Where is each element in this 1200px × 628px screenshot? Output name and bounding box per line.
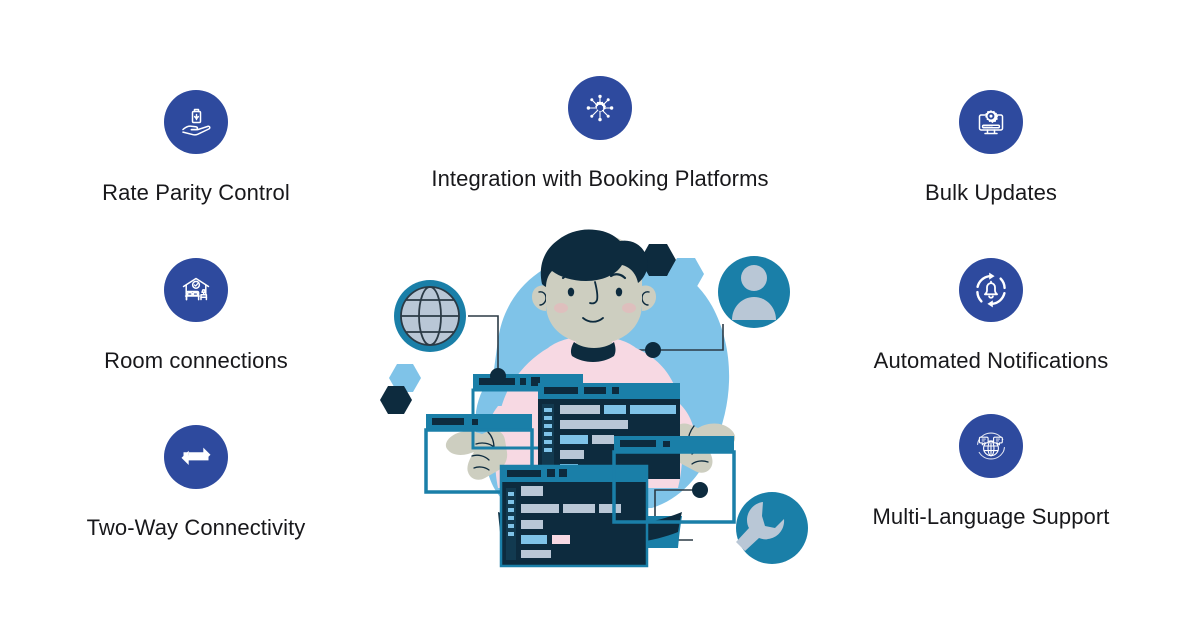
- feature-label: Bulk Updates: [925, 180, 1057, 206]
- bell-refresh-icon: [959, 258, 1023, 322]
- central-illustration: [380, 228, 810, 578]
- user-badge: [718, 256, 790, 328]
- feature-label: Rate Parity Control: [102, 180, 290, 206]
- feature-bulk-updates[interactable]: Bulk Updates: [821, 90, 1161, 206]
- two-way-arrows-icon: [164, 425, 228, 489]
- monitor-gear-icon: [959, 90, 1023, 154]
- hand-price-tag-icon: [164, 90, 228, 154]
- wrench-badge: [736, 492, 808, 564]
- infographic-canvas: Rate Parity Control: [0, 0, 1200, 628]
- feature-label: Multi-Language Support: [872, 504, 1109, 530]
- feature-multi-language-support[interactable]: Multi-Language Support: [821, 414, 1161, 530]
- ui-window-d: [501, 466, 647, 566]
- globe-chat-icon: [959, 414, 1023, 478]
- bed-check-icon: [164, 258, 228, 322]
- feature-label: Automated Notifications: [874, 348, 1109, 374]
- gear-network-icon: [568, 76, 632, 140]
- ui-window-c: [538, 383, 680, 479]
- feature-automated-notifications[interactable]: Automated Notifications: [821, 258, 1161, 374]
- feature-label: Room connections: [104, 348, 288, 374]
- feature-label: Two-Way Connectivity: [87, 515, 306, 541]
- feature-label: Integration with Booking Platforms: [431, 166, 768, 192]
- feature-rate-parity-control[interactable]: Rate Parity Control: [26, 90, 366, 206]
- globe-badge: [394, 280, 466, 352]
- feature-room-connections[interactable]: Room connections: [26, 258, 366, 374]
- feature-two-way-connectivity[interactable]: Two-Way Connectivity: [26, 425, 366, 541]
- feature-integration-booking[interactable]: Integration with Booking Platforms: [430, 76, 770, 192]
